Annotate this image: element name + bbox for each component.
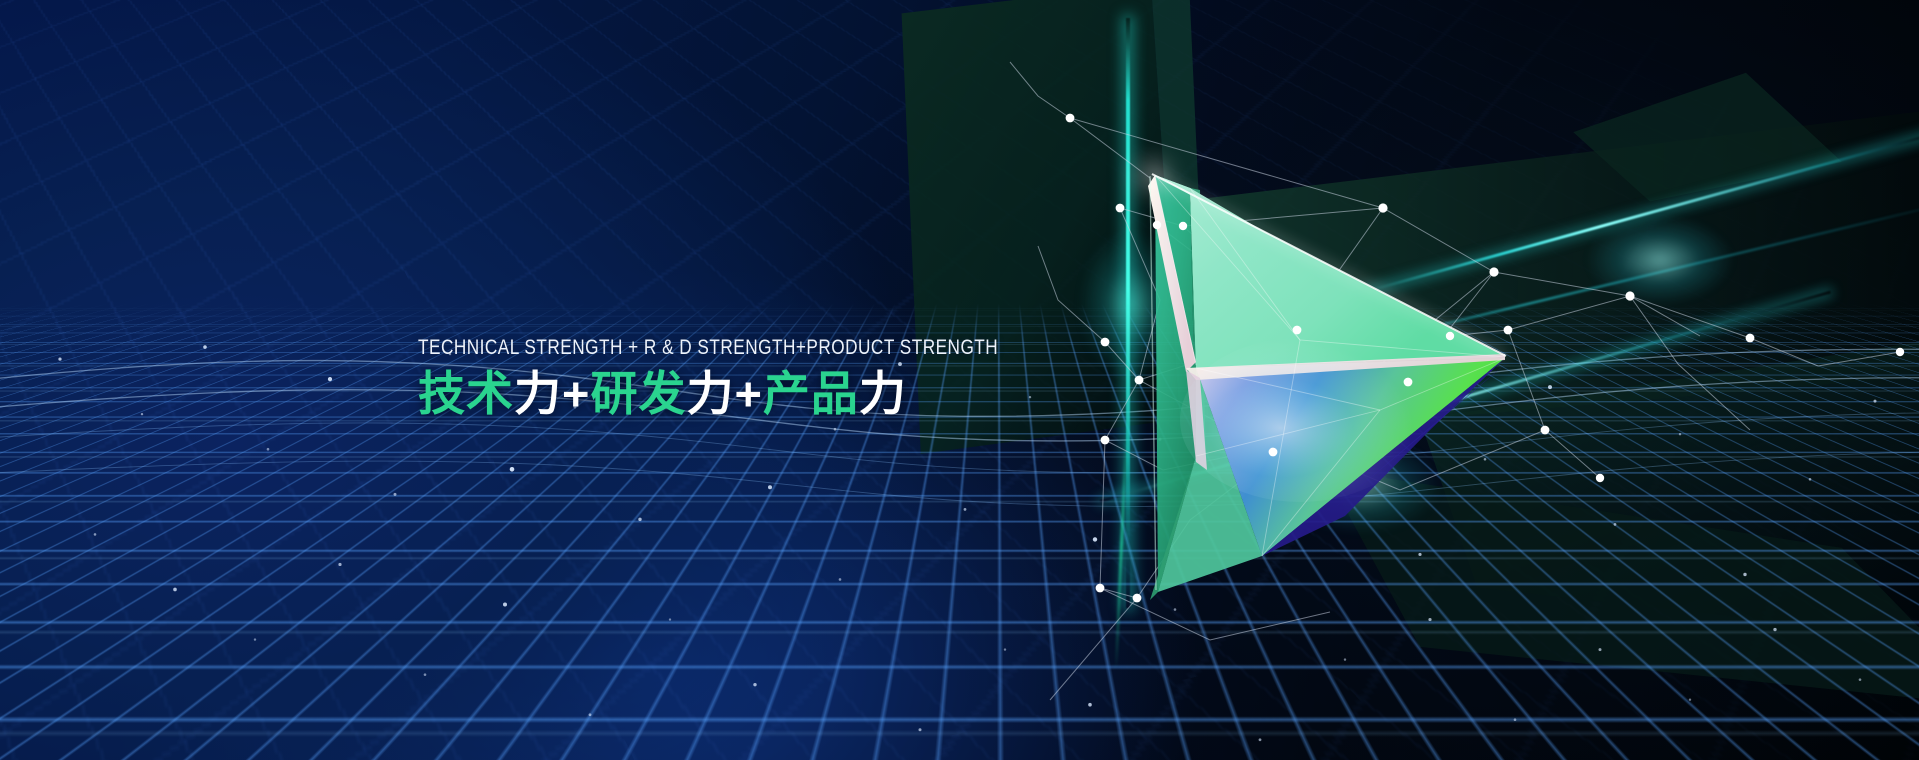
headline-block: TECHNICAL STRENGTH + R & D STRENGTH+PROD… [418,336,1143,421]
headline-cn-seg-5: + [734,367,762,420]
prism-edge-highlight-left [1150,176,1156,590]
headline-cn-seg-7: 力 [859,367,907,420]
headline-cn-seg-1: 力 [514,367,562,420]
headline-cn-seg-2: + [562,367,590,420]
headline-cn-seg-4: 力 [686,367,734,420]
headline-cn-seg-3: 研发 [590,367,686,420]
headline-cn-seg-6: 产品 [763,367,859,420]
prism-vertex-glow [1137,160,1169,192]
headline-chinese: 技术力+研发力+产品力 [418,366,1143,421]
headline-english: TECHNICAL STRENGTH + R & D STRENGTH+PROD… [418,336,998,359]
hero-banner: TECHNICAL STRENGTH + R & D STRENGTH+PROD… [0,0,1919,760]
prism-inner-glow [1180,338,1420,502]
headline-cn-seg-0: 技术 [418,367,514,420]
